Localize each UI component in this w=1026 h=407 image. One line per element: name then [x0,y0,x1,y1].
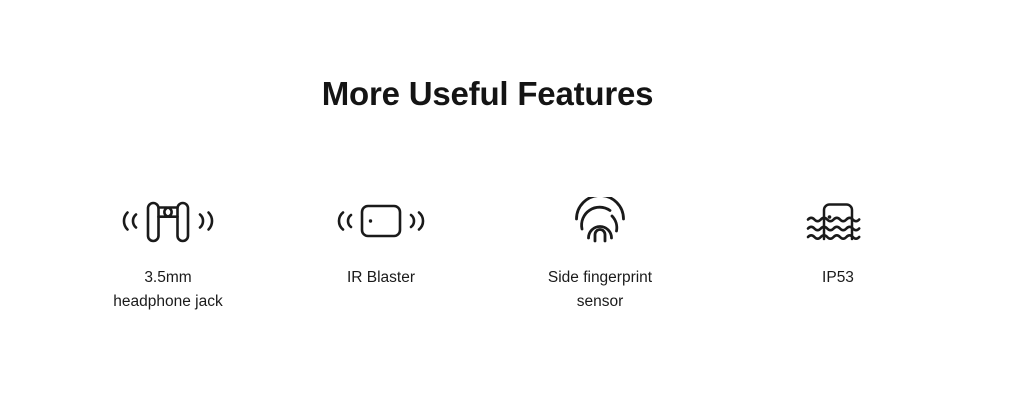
feature-label: IP53 [738,266,938,290]
page-title: More Useful Features [0,72,975,116]
water-resistance-icon [738,190,938,252]
feature-label: 3.5mm headphone jack [68,266,268,314]
feature-item-fingerprint: Side fingerprint sensor [500,190,700,314]
feature-label: IR Blaster [281,266,481,290]
feature-item-headphone-jack: 3.5mm headphone jack [68,190,268,314]
feature-item-ir-blaster: IR Blaster [281,190,481,290]
feature-label-line-2: headphone jack [68,290,268,314]
fingerprint-icon [500,190,700,252]
feature-list: 3.5mm headphone jack [0,190,1026,330]
feature-label-line-1: IR Blaster [281,266,481,290]
feature-label-line-1: Side fingerprint [500,266,700,290]
feature-item-ip53: IP53 [738,190,938,290]
earbuds-headphone-icon [68,190,268,252]
feature-label-line-2: sensor [500,290,700,314]
ir-blaster-icon [281,190,481,252]
more-useful-features-section: More Useful Features [0,0,1026,407]
feature-label-line-1: IP53 [738,266,938,290]
feature-label-line-1: 3.5mm [68,266,268,290]
feature-label: Side fingerprint sensor [500,266,700,314]
